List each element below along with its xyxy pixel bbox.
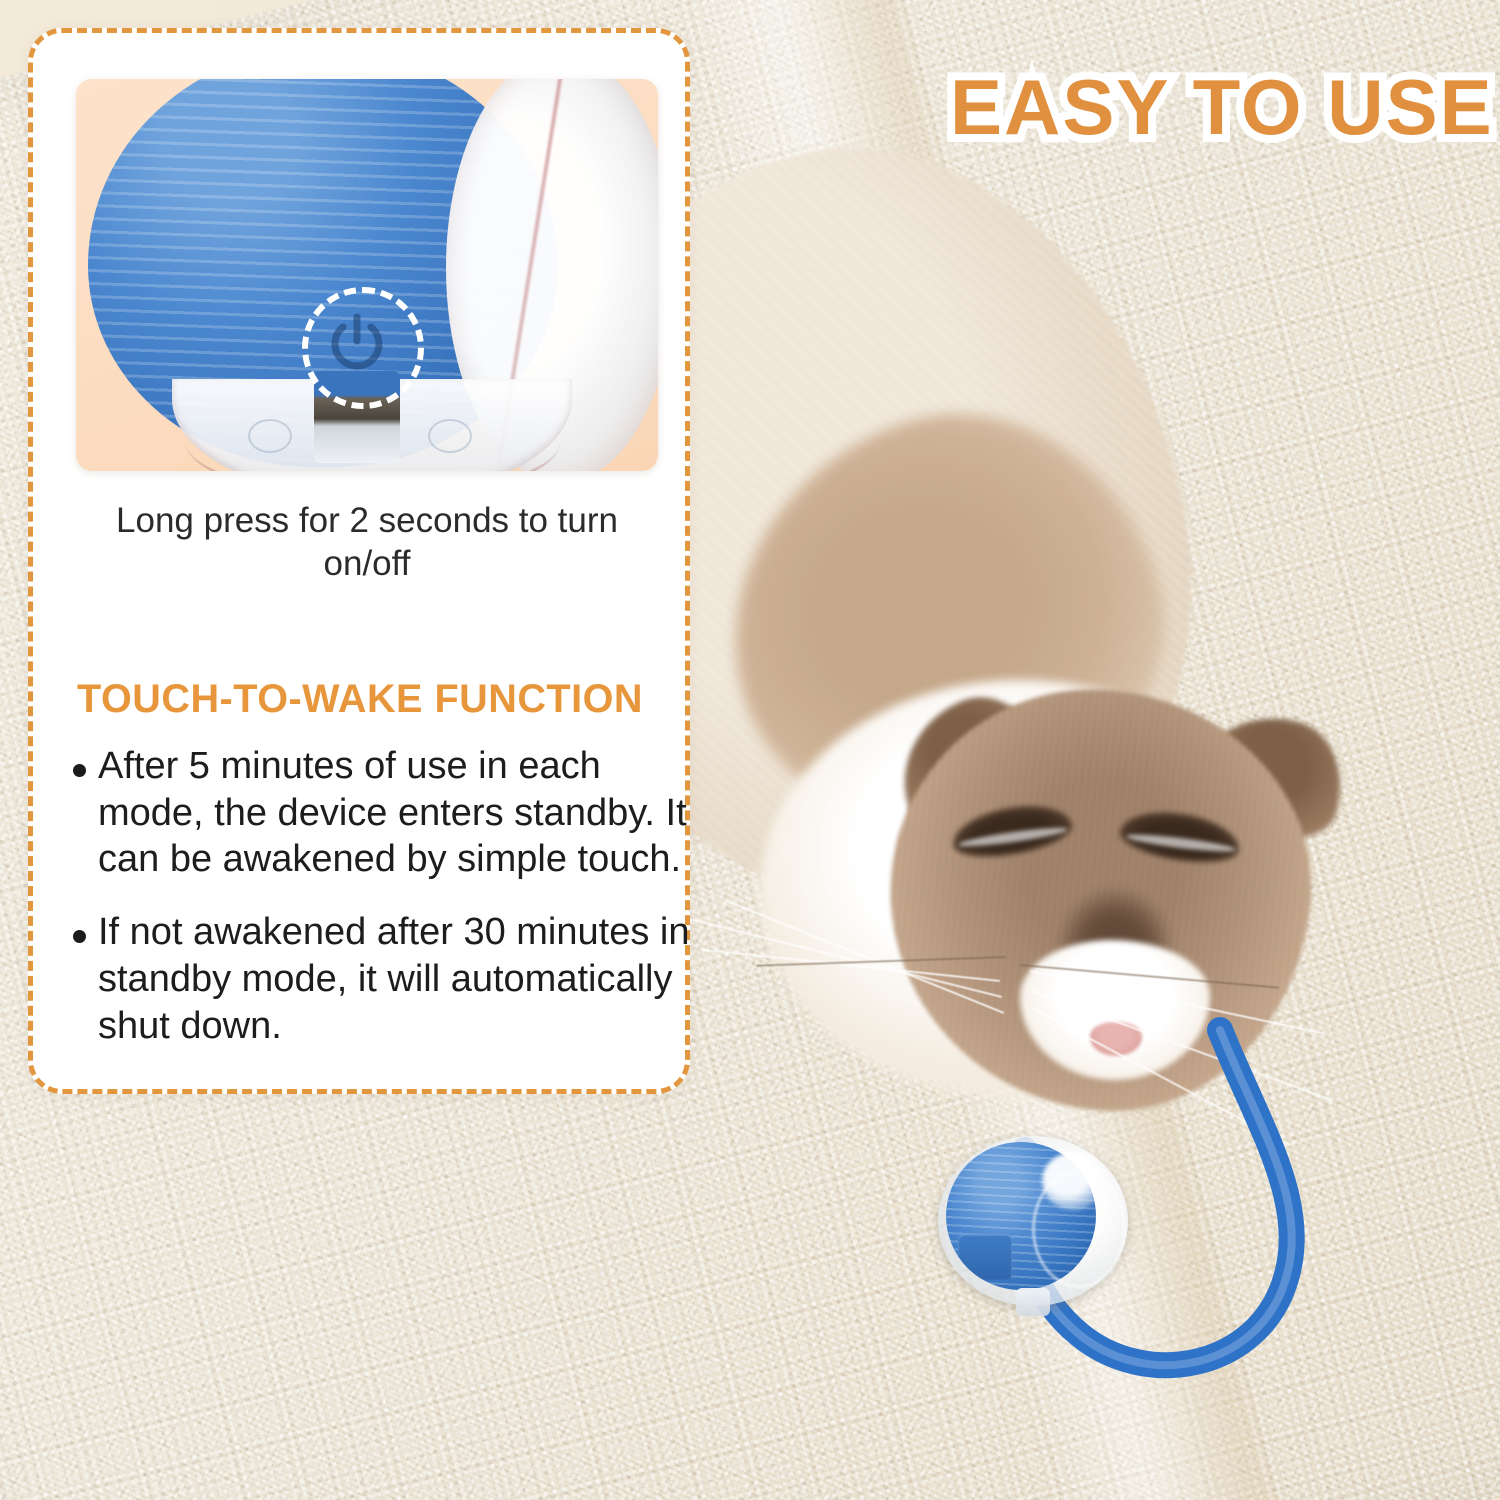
list-item: If not awakened after 30 minutes in stan… <box>73 909 693 1049</box>
page-title: EASY TO USE <box>950 62 1494 153</box>
section-heading: TOUCH-TO-WAKE FUNCTION <box>77 677 671 722</box>
ball-side-tab <box>958 1234 1012 1280</box>
cat-ball-toy <box>938 1136 1128 1306</box>
ball-rope-anchor <box>1016 1288 1050 1316</box>
caption-text: Long press for 2 seconds to turn on/off <box>77 499 657 585</box>
bullet-text: After 5 minutes of use in each mode, the… <box>98 743 693 883</box>
power-icon <box>326 311 388 373</box>
bullet-text: If not awakened after 30 minutes in stan… <box>98 909 693 1049</box>
bullet-dot-icon <box>73 764 86 777</box>
feature-card: Long press for 2 seconds to turn on/off … <box>28 28 690 1094</box>
infographic-canvas: EASY TO USE Long press for 2 seconds to … <box>0 0 1500 1500</box>
bullet-dot-icon <box>73 930 86 943</box>
device-led-right <box>428 419 472 453</box>
power-button-closeup-photo <box>76 79 658 471</box>
device-led-left <box>248 419 292 453</box>
feature-bullet-list: After 5 minutes of use in each mode, the… <box>73 743 693 1075</box>
ball-highlight <box>1042 1152 1106 1210</box>
list-item: After 5 minutes of use in each mode, the… <box>73 743 693 883</box>
